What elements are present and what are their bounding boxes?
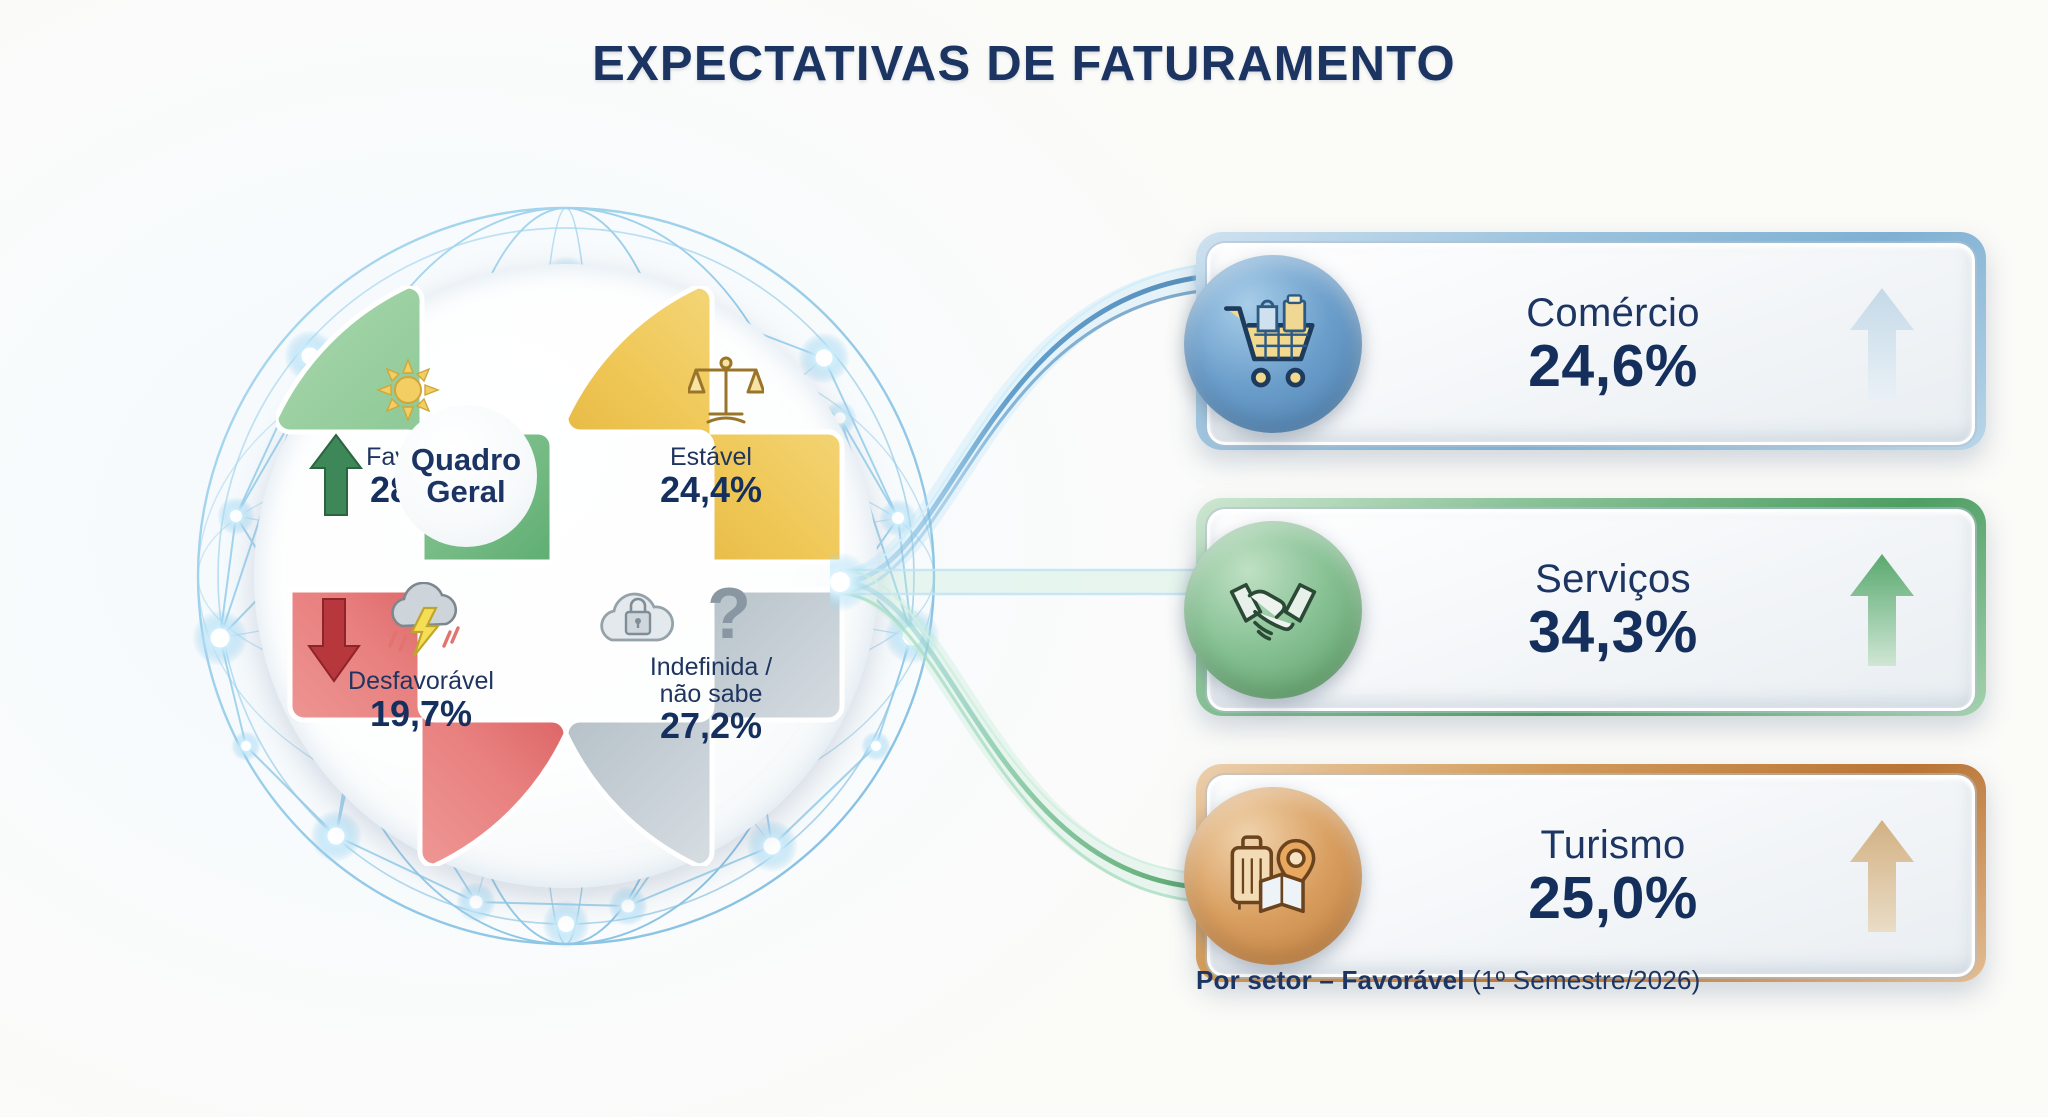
pie-quadrants: Favorável 28,7%	[276, 286, 856, 866]
sector-card-comercio-body: Comércio 24,6%	[1207, 243, 1975, 445]
sun-icon	[376, 358, 440, 422]
quadrant-estavel[interactable]: Estável 24,4%	[566, 286, 856, 576]
sector-card-turismo-text: Turismo 25,0%	[1410, 825, 1816, 928]
sector-card-servicos-body: Serviços 34,3%	[1207, 509, 1975, 711]
turismo-trend	[1816, 816, 1948, 936]
caption: Por setor – Favorável (1º Semestre/2026)	[1196, 965, 2036, 996]
sector-card-turismo-body: Turismo 25,0%	[1207, 775, 1975, 977]
sector-card-comercio[interactable]: Comércio 24,6%	[1196, 232, 1986, 450]
page-title: EXPECTATIVAS DE FATURAMENTO	[0, 36, 2048, 92]
handshake-icon	[1219, 556, 1327, 664]
balance-scale-icon	[688, 352, 764, 428]
svg-text:?: ?	[707, 576, 751, 654]
question-mark-icon: ?	[698, 576, 760, 662]
handshake-badge	[1184, 521, 1362, 699]
up-arrow-icon	[1847, 284, 1917, 404]
up-arrow-icon	[308, 432, 364, 518]
sector-card-comercio-text: Comércio 24,6%	[1410, 293, 1816, 396]
servicos-trend	[1816, 550, 1948, 670]
caption-normal: (1º Semestre/2026)	[1465, 965, 1701, 995]
sector-card-servicos-text: Serviços 34,3%	[1410, 559, 1816, 662]
up-arrow-icon	[1847, 550, 1917, 670]
center-label: Quadro Geral	[411, 444, 521, 507]
luggage-map-pin-icon	[1220, 823, 1326, 929]
comercio-trend	[1816, 284, 1948, 404]
quadrant-desfavoravel[interactable]: Desfavorável 19,7%	[276, 576, 566, 866]
connector-lines	[830, 180, 1250, 960]
up-arrow-icon	[1847, 816, 1917, 936]
infographic-canvas: EXPECTATIVAS DE FATURAMENTO	[0, 0, 2048, 1117]
wheel-center-hub: Quadro Geral	[395, 405, 537, 547]
sector-card-servicos[interactable]: Serviços 34,3%	[1196, 498, 1986, 716]
cloud-lock-icon	[588, 582, 686, 656]
shopping-cart-badge	[1184, 255, 1362, 433]
quadrant-indefinida[interactable]: Indefinida / não sabe 27,2% ?	[566, 576, 856, 866]
sector-card-turismo[interactable]: Turismo 25,0%	[1196, 764, 1986, 982]
caption-bold: Por setor – Favorável	[1196, 965, 1465, 995]
sector-cards: Comércio 24,6%	[1196, 232, 1986, 1030]
down-arrow-icon	[306, 596, 362, 684]
shopping-cart-icon	[1217, 288, 1329, 400]
storm-cloud-icon	[380, 582, 472, 664]
luggage-map-pin-badge	[1184, 787, 1362, 965]
